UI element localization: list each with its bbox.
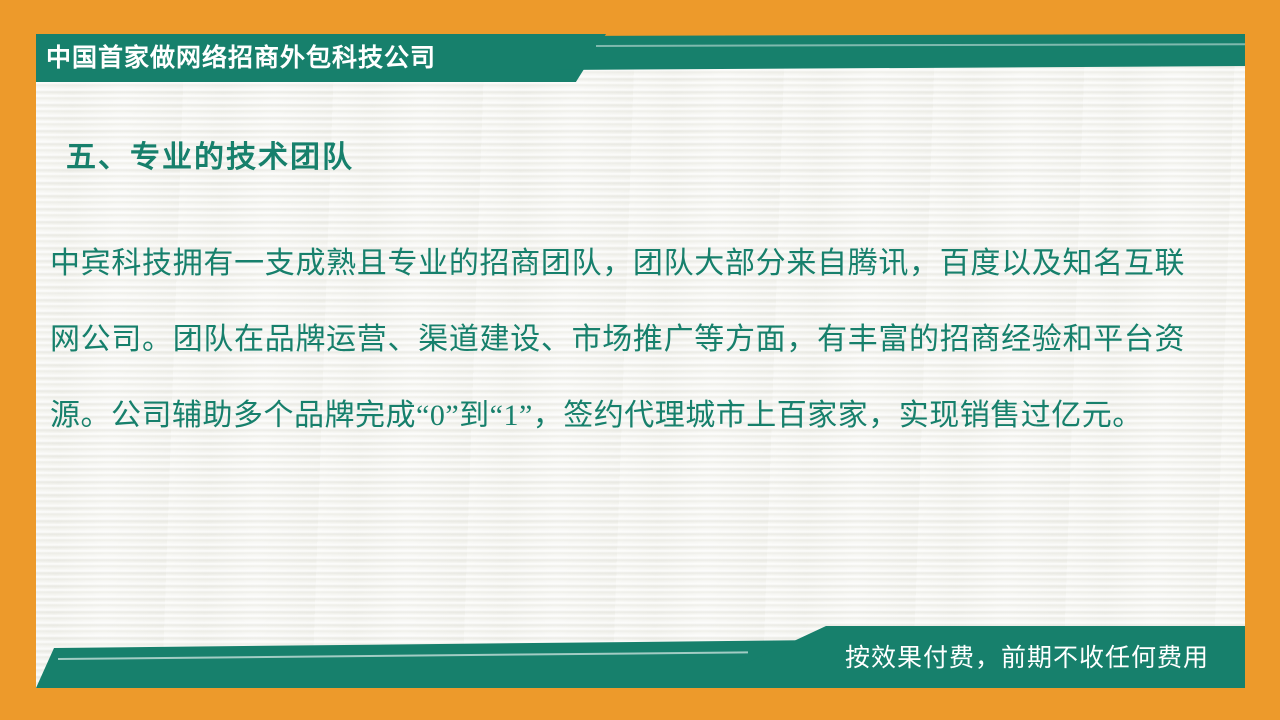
slide-border-top [0,0,1280,36]
header-title: 中国首家做网络招商外包科技公司 [46,36,566,80]
slide-border-bottom [0,688,1280,720]
body-paragraph: 中宾科技拥有一支成熟且专业的招商团队，团队大部分来自腾讯，百度以及知名互联网公司… [50,226,1185,454]
footer-green-band [36,640,826,688]
slide-footer: 按效果付费，前期不收任何费用 [36,616,1245,688]
slide-border-right [1245,0,1280,720]
section-heading: 五、专业的技术团队 [66,132,354,176]
slide-border-left [0,0,36,720]
presentation-slide: 中国首家做网络招商外包科技公司 五、专业的技术团队 中宾科技拥有一支成熟且专业的… [0,0,1280,720]
footer-slogan: 按效果付费，前期不收任何费用 [845,638,1209,674]
header-green-band [556,34,1245,70]
